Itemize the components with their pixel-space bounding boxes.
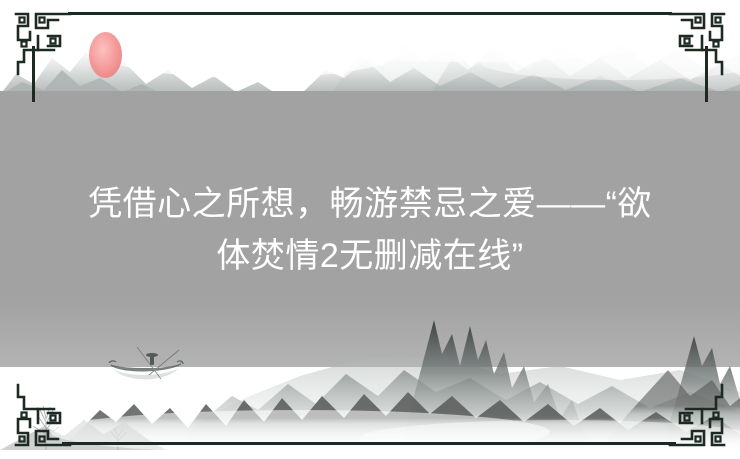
decorative-banner: 凭借心之所想，畅游禁忌之爱——“欲 体焚情2无删减在线”	[0, 0, 740, 459]
corner-fret-top-left	[8, 6, 82, 80]
headline-line-2: 体焚情2无删减在线”	[18, 230, 722, 282]
corner-fret-bottom-left	[8, 379, 82, 453]
fisherman-boat	[103, 345, 189, 387]
headline-line-1: 凭借心之所想，畅游禁忌之爱——“欲	[18, 178, 722, 230]
frame-rule-bottom	[62, 442, 676, 445]
frame-rule-top	[68, 12, 672, 15]
red-sun-icon	[89, 32, 122, 78]
corner-fret-bottom-right	[658, 379, 732, 453]
corner-fret-top-right	[658, 6, 732, 80]
shrub	[111, 428, 126, 450]
page-title: 凭借心之所想，畅游禁忌之爱——“欲 体焚情2无删减在线”	[0, 178, 740, 282]
